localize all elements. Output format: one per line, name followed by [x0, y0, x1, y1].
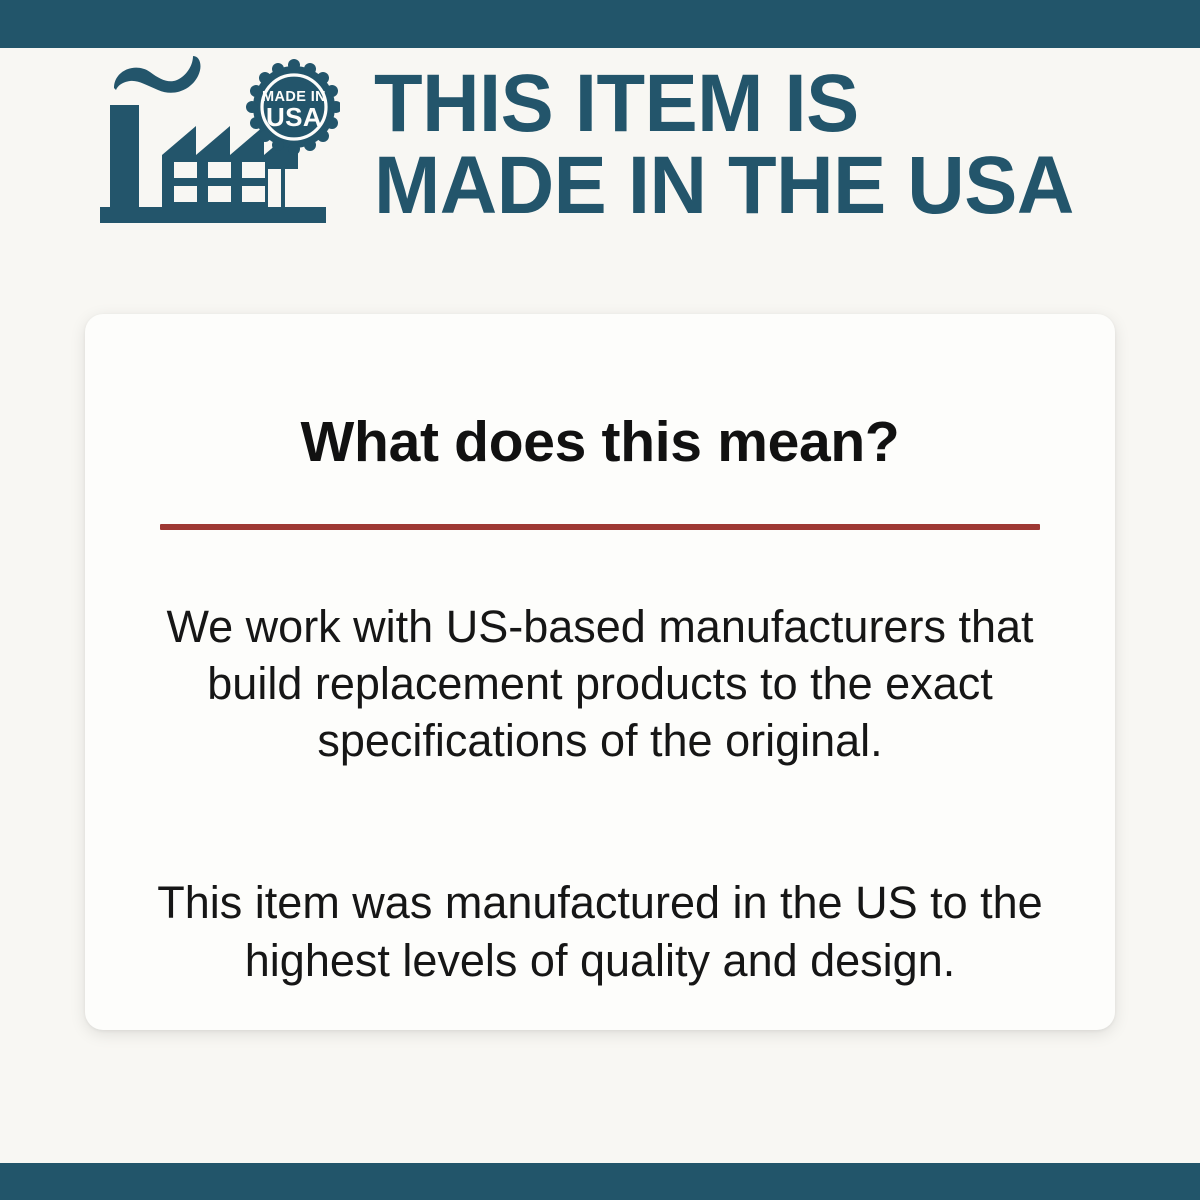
explanation-card: What does this mean? We work with US-bas…	[85, 314, 1115, 1030]
card-paragraph-2: This item was manufactured in the US to …	[85, 874, 1115, 988]
bottom-accent-band	[0, 1163, 1200, 1200]
top-accent-band	[0, 0, 1200, 48]
page-title-line-2: MADE IN THE USA	[374, 145, 1074, 226]
card-divider	[160, 524, 1040, 530]
card-paragraph-1: We work with US-based manufacturers that…	[85, 598, 1115, 769]
page-title-line-1: THIS ITEM IS	[374, 63, 1074, 144]
page-title: THIS ITEM IS MADE IN THE USA	[374, 63, 1074, 225]
page-header: MADE IN USA THIS ITEM IS MADE IN THE USA	[100, 52, 1095, 237]
card-title: What does this mean?	[85, 314, 1115, 471]
factory-icon: MADE IN USA	[100, 52, 340, 237]
badge-usa-text: USA	[266, 102, 322, 132]
